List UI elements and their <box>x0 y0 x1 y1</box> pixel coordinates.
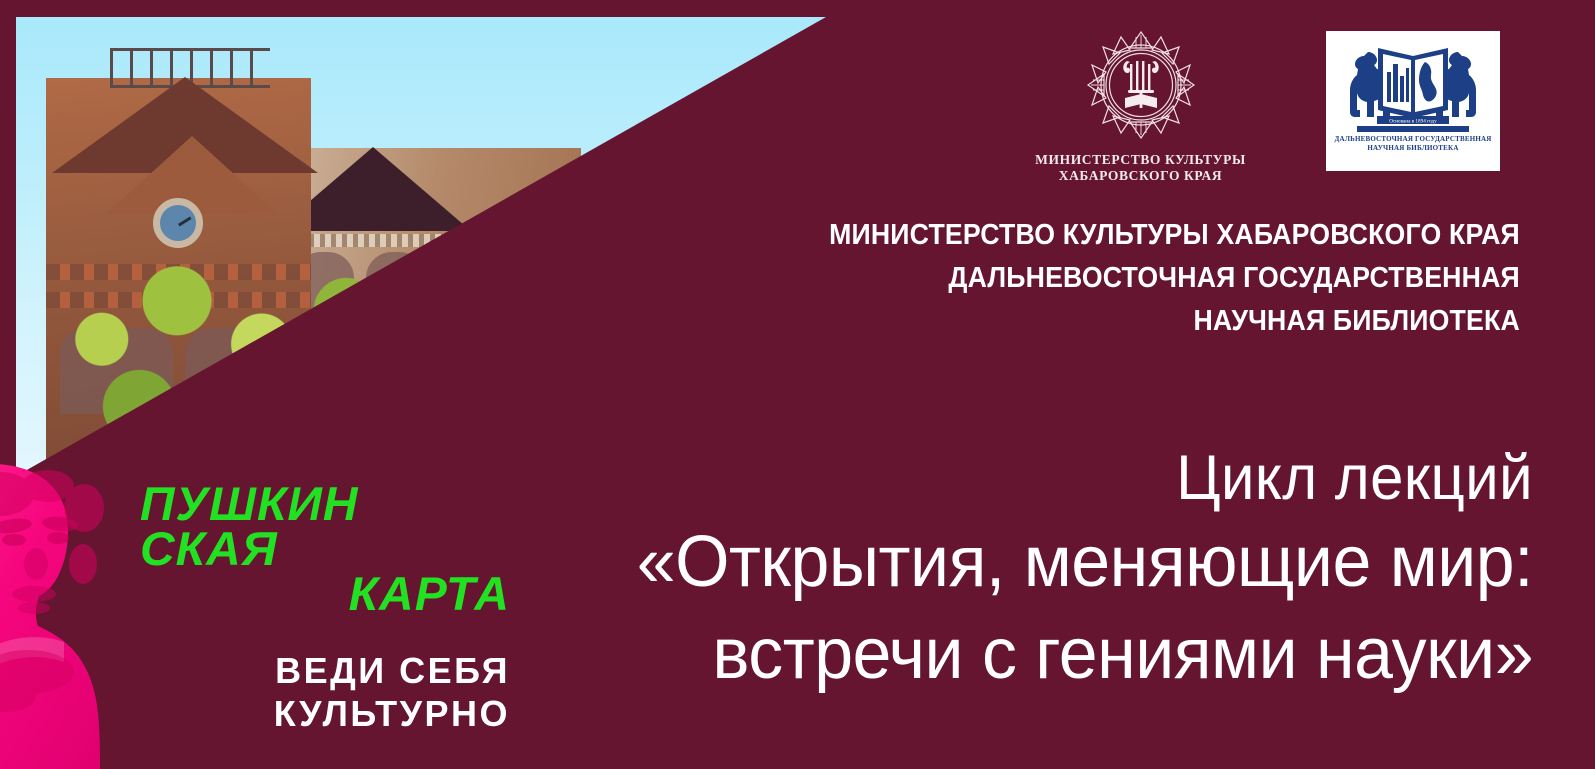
library-caption-line-1: ДАЛЬНЕВОСТОЧНАЯ ГОСУДАРСТВЕННАЯ <box>1329 135 1496 144</box>
organization-line-3: НАУЧНАЯ БИБЛИОТЕКА <box>829 300 1520 343</box>
organization-line-1: МИНИСТЕРСТВО КУЛЬТУРЫ ХАБАРОВСКОГО КРАЯ <box>829 214 1520 257</box>
poster-canvas: МИНИСТЕРСТВО КУЛЬТУРЫ ХАБАРОВСКОГО КРАЯ <box>0 0 1595 769</box>
organization-name-block: МИНИСТЕРСТВО КУЛЬТУРЫ ХАБАРОВСКОГО КРАЯ … <box>769 214 1520 343</box>
pushkin-card-logo: ПУШКИН СКАЯ КАРТА <box>140 481 510 616</box>
ministry-caption-line-1: МИНИСТЕРСТВО КУЛЬТУРЫ <box>1023 152 1258 168</box>
event-kicker: Цикл лекций <box>655 440 1533 516</box>
pushkin-card-slogan-line-1: ВЕДИ СЕБЯ <box>140 649 510 692</box>
library-caption-line-2: НАУЧНАЯ БИБЛИОТЕКА <box>1329 144 1496 153</box>
pushkin-card-logo-line-1: ПУШКИН <box>140 481 517 526</box>
ministry-caption-line-2: ХАБАРОВСКОГО КРАЯ <box>1023 168 1258 184</box>
pushkin-card-slogan-line-2: КУЛЬТУРНО <box>140 692 510 735</box>
pushkin-card-slogan: ВЕДИ СЕБЯ КУЛЬТУРНО <box>140 649 510 735</box>
organization-line-2: ДАЛЬНЕВОСТОЧНАЯ ГОСУДАРСТВЕННАЯ <box>829 257 1520 300</box>
pushkin-card-logo-line-2: СКАЯ <box>140 526 517 571</box>
pushkin-card-logo-line-3: КАРТА <box>133 571 510 616</box>
ministry-logo-caption: МИНИСТЕРСТВО КУЛЬТУРЫ ХАБАРОВСКОГО КРАЯ <box>1023 152 1258 184</box>
pushkin-card-block: ПУШКИН СКАЯ КАРТА ВЕДИ СЕБЯ КУЛЬТУРНО <box>140 481 510 735</box>
event-title-line-1: «Открытия, меняющие мир: <box>637 516 1533 608</box>
library-logo-caption: ДАЛЬНЕВОСТОЧНАЯ ГОСУДАРСТВЕННАЯ НАУЧНАЯ … <box>1329 135 1496 153</box>
event-title-block: Цикл лекций «Открытия, меняющие мир: вст… <box>609 440 1533 700</box>
library-building-photo <box>16 17 826 478</box>
tower-clock <box>153 198 203 248</box>
library-emblem-icon: Основана в 1894 году <box>1333 36 1493 134</box>
ministry-of-culture-logo: МИНИСТЕРСТВО КУЛЬТУРЫ ХАБАРОВСКОГО КРАЯ <box>1023 28 1258 184</box>
event-title-line-2: встречи с гениями науки» <box>637 608 1533 700</box>
library-founded-banner: Основана в 1894 году <box>1389 119 1437 125</box>
library-logo: Основана в 1894 году ДАЛЬНЕВОСТОЧНАЯ ГОС… <box>1326 31 1500 171</box>
ministry-emblem-icon <box>1080 28 1202 146</box>
